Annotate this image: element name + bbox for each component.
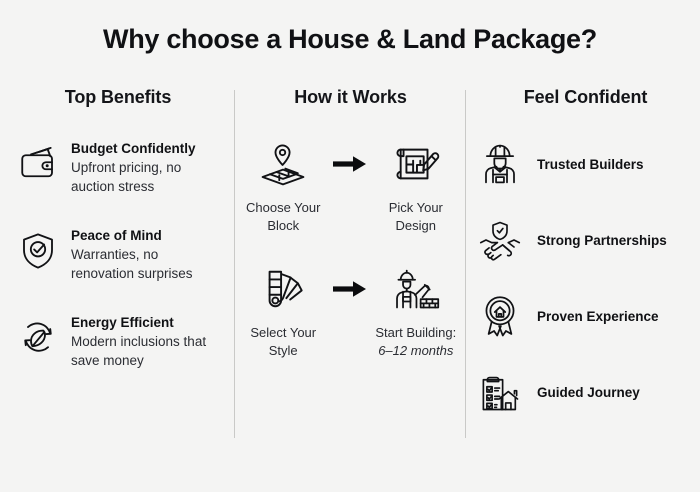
confidence-label: Guided Journey bbox=[537, 384, 640, 401]
step-row: Select Your Style bbox=[240, 263, 459, 360]
benefit-description: Warranties, no renovation surprises bbox=[71, 247, 193, 281]
benefit-item: Energy Efficient Modern inclusions that … bbox=[16, 314, 220, 370]
wallet-icon bbox=[16, 142, 60, 186]
benefit-item: Budget Confidently Upfront pricing, no a… bbox=[16, 140, 220, 196]
columns-container: Top Benefits Budget C bbox=[0, 86, 700, 446]
confidence-label: Strong Partnerships bbox=[537, 232, 667, 249]
confidence-item: Proven Experience bbox=[477, 290, 690, 342]
confidence-label: Proven Experience bbox=[537, 308, 659, 325]
benefit-description: Upfront pricing, no auction stress bbox=[71, 160, 181, 194]
confidence-list: Trusted Builders bbox=[477, 138, 690, 418]
shield-check-icon bbox=[16, 229, 60, 273]
benefit-title: Peace of Mind bbox=[71, 228, 162, 243]
step-select-your-style: Select Your Style bbox=[240, 263, 326, 360]
steps-container: Choose Your Block bbox=[240, 138, 459, 360]
step-label: Start Building: 6–12 months bbox=[373, 325, 459, 360]
right-arrow-icon bbox=[326, 138, 372, 190]
right-arrow-icon bbox=[326, 263, 372, 315]
benefit-text: Energy Efficient Modern inclusions that … bbox=[71, 314, 220, 370]
step-label-emphasis: 6–12 months bbox=[373, 342, 459, 360]
step-label: Choose Your Block bbox=[246, 200, 320, 233]
confidence-label: Trusted Builders bbox=[537, 156, 644, 173]
blueprint-pencil-icon bbox=[373, 138, 459, 190]
confidence-item: Strong Partnerships bbox=[477, 214, 690, 266]
benefit-text: Peace of Mind Warranties, no renovation … bbox=[71, 227, 220, 283]
benefit-item: Peace of Mind Warranties, no renovation … bbox=[16, 227, 220, 283]
column-heading-benefits: Top Benefits bbox=[16, 86, 220, 112]
step-label: Pick Your Design bbox=[389, 200, 443, 233]
page-title: Why choose a House & Land Package? bbox=[0, 24, 700, 55]
clipboard-house-icon bbox=[477, 369, 523, 415]
benefit-description: Modern inclusions that save money bbox=[71, 334, 206, 368]
benefits-list: Budget Confidently Upfront pricing, no a… bbox=[16, 140, 220, 370]
confidence-item: Trusted Builders bbox=[477, 138, 690, 190]
column-feel-confident: Feel Confident bbox=[465, 86, 700, 446]
step-choose-your-block: Choose Your Block bbox=[240, 138, 326, 235]
step-start-building: Start Building: 6–12 months bbox=[373, 263, 459, 360]
column-heading-how-it-works: How it Works bbox=[240, 86, 459, 112]
map-pin-plot-icon bbox=[240, 138, 326, 190]
handshake-shield-icon bbox=[477, 217, 523, 263]
infographic-canvas: Why choose a House & Land Package? Top B… bbox=[0, 0, 700, 492]
hard-hat-worker-icon bbox=[477, 141, 523, 187]
leaf-recycle-icon bbox=[16, 316, 60, 360]
benefit-title: Budget Confidently bbox=[71, 141, 196, 156]
color-swatch-fan-icon bbox=[240, 263, 326, 315]
column-heading-feel-confident: Feel Confident bbox=[477, 86, 690, 112]
benefit-title: Energy Efficient bbox=[71, 315, 174, 330]
step-label: Select Your Style bbox=[250, 325, 316, 358]
award-house-icon bbox=[477, 293, 523, 339]
column-how-it-works: How it Works bbox=[234, 86, 465, 446]
confidence-item: Guided Journey bbox=[477, 366, 690, 418]
step-row: Choose Your Block bbox=[240, 138, 459, 235]
step-label-main: Start Building: bbox=[375, 325, 456, 340]
step-pick-your-design: Pick Your Design bbox=[373, 138, 459, 235]
bricklayer-icon bbox=[373, 263, 459, 315]
column-top-benefits: Top Benefits Budget C bbox=[0, 86, 234, 446]
benefit-text: Budget Confidently Upfront pricing, no a… bbox=[71, 140, 220, 196]
